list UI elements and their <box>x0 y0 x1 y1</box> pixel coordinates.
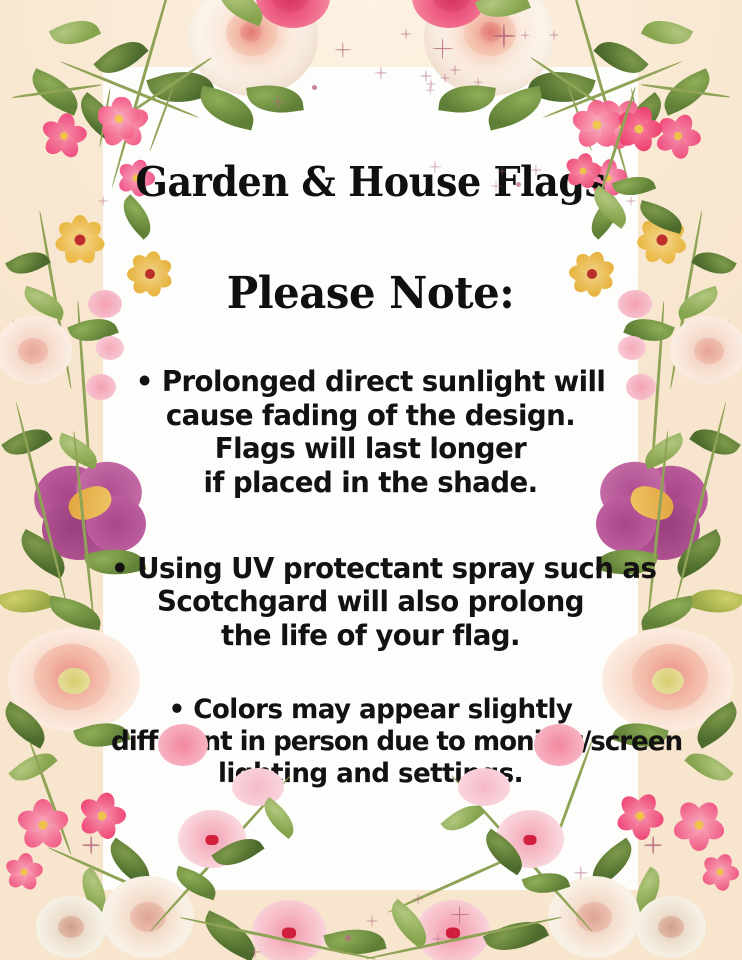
sparkle-star-icon <box>82 836 100 854</box>
sparkle-star-icon <box>412 893 423 904</box>
sparkle-star-icon <box>440 73 450 83</box>
sparkle-star-icon <box>490 180 501 191</box>
sparkle-star-icon <box>432 933 444 945</box>
sparkle-star-icon <box>626 196 636 206</box>
sparkle-dot-icon <box>345 935 351 941</box>
sparkle-star-icon <box>425 85 434 94</box>
sparkle-star-icon <box>270 94 285 109</box>
sparkle-dot-icon <box>312 85 317 90</box>
sparkle-dot-icon <box>528 827 535 834</box>
sparkle-star-icon <box>549 30 559 40</box>
sparkle-star-icon <box>492 24 516 48</box>
sparkle-star-icon <box>644 836 662 854</box>
sparkle-star-icon <box>432 38 453 59</box>
sparkle-dot-icon <box>516 182 521 187</box>
sparkle-star-icon <box>400 28 411 39</box>
sparkle-star-icon <box>449 64 460 75</box>
floral-notice-poster: Garden & House Flags Please Note: • Prol… <box>0 0 742 960</box>
sparkle-star-icon <box>335 42 351 58</box>
sparkle-star-icon <box>248 945 261 958</box>
sparkle-star-icon <box>450 905 469 924</box>
sparkle-star-icon <box>497 166 506 175</box>
sparkle-star-icon <box>428 160 441 173</box>
sparkle-star-icon <box>520 30 529 39</box>
sparkle-star-icon <box>374 66 387 79</box>
sparkle-star-icon <box>530 164 542 176</box>
sparkle-star-icon <box>473 77 482 86</box>
sparkle-layer <box>0 0 742 960</box>
sparkle-star-icon <box>98 196 108 206</box>
sparkle-star-icon <box>574 866 588 880</box>
sparkle-star-icon <box>366 915 378 927</box>
